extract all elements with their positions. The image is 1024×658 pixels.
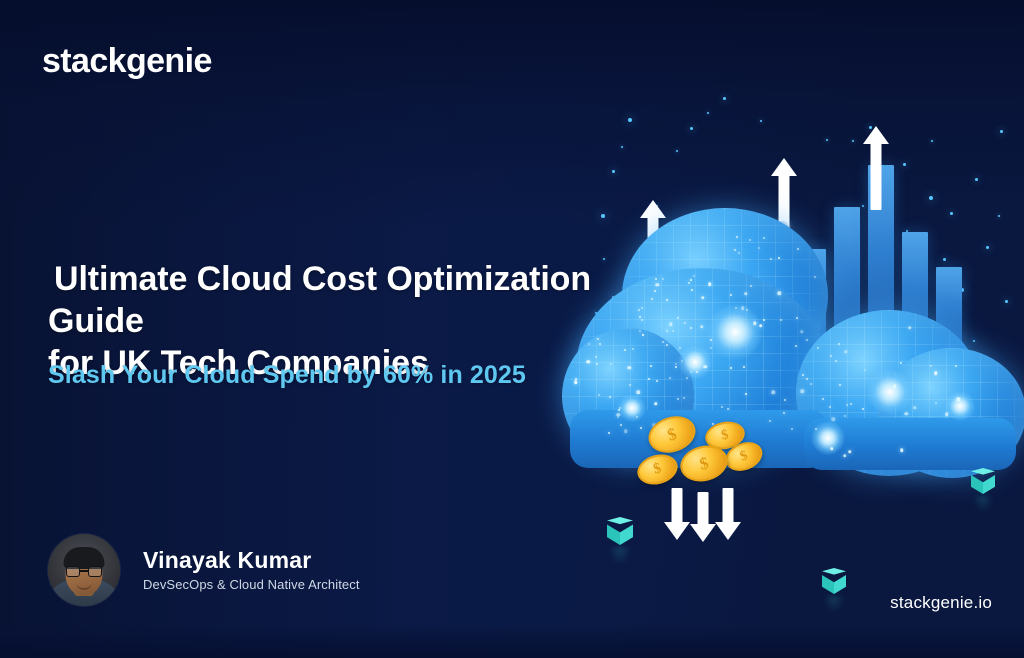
- cloud-node-dot: [666, 344, 668, 346]
- cloud-node-dot: [777, 292, 781, 296]
- cloud-node-dot: [624, 349, 626, 351]
- cloud-node-dot: [648, 378, 650, 380]
- star-decoration: [628, 118, 632, 122]
- author-block: Vinayak Kumar DevSecOps & Cloud Native A…: [48, 534, 360, 606]
- cloud-node-dot: [780, 319, 782, 321]
- cloud-node-dot: [675, 366, 677, 368]
- cloud-node-dot: [640, 427, 642, 429]
- star-decoration: [826, 139, 828, 141]
- cloud-node-dot: [677, 398, 679, 400]
- cloud-node-dot: [945, 413, 949, 417]
- cube-icon: [822, 568, 846, 594]
- cloud-node-dot: [655, 278, 657, 280]
- star-decoration: [676, 150, 678, 152]
- cloud-node-dot: [934, 372, 938, 376]
- cloud-node-dot: [710, 339, 712, 341]
- cloud-node-dot: [763, 237, 765, 239]
- cloud-node-dot: [684, 322, 686, 324]
- cloud-node-dot: [598, 394, 600, 396]
- cloud-node-dot: [721, 406, 723, 408]
- cloud-node-dot: [641, 319, 643, 321]
- cloud-node-dot: [862, 408, 864, 410]
- cloud-node-dot: [817, 347, 819, 349]
- cloud-node-dot: [791, 428, 793, 430]
- cube-icon: [971, 468, 995, 494]
- cloud-node-dot: [838, 343, 840, 345]
- cloud-node-dot: [778, 257, 780, 259]
- cloud-node-dot: [750, 285, 752, 287]
- cloud-node-dot: [956, 397, 960, 401]
- arrow-down-icon: [690, 492, 716, 542]
- cloud-node-dot: [736, 236, 738, 238]
- cloud-node-dot: [797, 248, 799, 250]
- cloud-node-dot: [654, 290, 656, 292]
- cloud-node-dot: [656, 283, 660, 287]
- cloud-node-dot: [815, 428, 817, 430]
- cloud-node-dot: [669, 377, 671, 379]
- cloud-node-dot: [955, 365, 957, 367]
- cloud-node-dot: [758, 247, 760, 249]
- cloud-node-dot: [843, 454, 847, 458]
- cloud-node-dot: [675, 363, 677, 365]
- cloud-node-dot: [814, 276, 816, 278]
- cloud-node-dot: [753, 321, 757, 325]
- cloud-node-dot: [639, 316, 641, 318]
- cloud-node-dot: [704, 365, 708, 369]
- cloud-node-dot: [629, 384, 631, 386]
- cloud-node-dot: [616, 413, 620, 417]
- cloud-node-dot: [846, 404, 848, 406]
- cube-reflection: [609, 547, 631, 565]
- cloud-node-dot: [609, 396, 611, 398]
- cloud-node-dot: [930, 365, 932, 367]
- cloud-node-dot: [900, 448, 904, 452]
- cloud-node-dot: [770, 258, 772, 260]
- cloud-node-dot: [744, 292, 748, 296]
- cloud-node-dot: [759, 324, 763, 328]
- cloud-node-dot: [727, 408, 729, 410]
- cube-icon: [607, 517, 633, 545]
- cloud-node-dot: [651, 298, 653, 300]
- star-decoration: [852, 140, 854, 142]
- cloud-node-dot: [850, 403, 852, 405]
- arrow-down-icon: [715, 488, 741, 540]
- cloud-node-dot: [830, 355, 832, 357]
- cloud-node-dot: [734, 249, 736, 251]
- cloud-node-dot: [844, 415, 846, 417]
- star-decoration: [760, 120, 762, 122]
- glasses-icon: [66, 566, 102, 577]
- cloud-node-dot: [608, 432, 610, 434]
- star-decoration: [621, 146, 623, 148]
- cloud-node-dot: [900, 362, 902, 364]
- cloud-node-dot: [904, 412, 908, 416]
- cloud-node-dot: [628, 366, 632, 370]
- cloud-node-dot: [763, 319, 765, 321]
- cloud-node-dot: [690, 327, 692, 329]
- cloud-node-dot: [730, 367, 732, 369]
- cloud-node-dot: [913, 406, 917, 410]
- cloud-node-dot: [771, 390, 775, 394]
- cloud-node-dot: [677, 317, 679, 319]
- cloud-node-dot: [688, 282, 690, 284]
- cloud-node-dot: [650, 365, 652, 367]
- author-role: DevSecOps & Cloud Native Architect: [143, 575, 360, 595]
- cloud-node-dot: [708, 282, 712, 286]
- avatar: [48, 534, 120, 606]
- cloud-node-dot: [801, 389, 805, 393]
- star-decoration: [612, 170, 615, 173]
- cloud-node-dot: [656, 380, 658, 382]
- cloud-node-dot: [908, 326, 912, 330]
- cloud-node-dot: [636, 390, 640, 394]
- cloud-node-dot: [618, 409, 620, 411]
- star-decoration: [1000, 130, 1003, 133]
- cloud-node-dot: [844, 350, 848, 354]
- cloud-node-dot: [738, 252, 740, 254]
- cloud-node-dot: [796, 317, 798, 319]
- cloud-node-dot: [800, 330, 804, 334]
- cloud-node-dot: [935, 402, 937, 404]
- cloud-node-dot: [783, 412, 785, 414]
- cloud-node-dot: [639, 330, 641, 332]
- cloud-node-dot: [686, 377, 688, 379]
- background-bottom-shade: [0, 624, 1024, 658]
- cube-reflection: [973, 496, 993, 512]
- cloud-node-dot: [662, 278, 664, 280]
- arrow-down-icon: [664, 488, 690, 540]
- cloud-node-dot: [693, 275, 695, 277]
- cloud-node-dot: [893, 385, 897, 389]
- cloud-node-dot: [700, 325, 704, 329]
- cloud-node-dot: [802, 374, 804, 376]
- cloud-node-dot: [822, 398, 824, 400]
- cube-reflection: [824, 596, 844, 612]
- cloud-node-dot: [829, 406, 831, 408]
- cloud-node-dot: [769, 420, 771, 422]
- star-decoration: [707, 112, 709, 114]
- cloud-node-dot: [690, 279, 692, 281]
- cloud-node-dot: [642, 334, 644, 336]
- star-decoration: [931, 140, 933, 142]
- cloud-node-dot: [832, 417, 836, 421]
- cloud-node-dot: [632, 348, 634, 350]
- cloud-node-dot: [666, 299, 668, 301]
- cloud-node-dot: [696, 371, 698, 373]
- cloud-node-dot: [830, 447, 834, 451]
- cloud-node-dot: [784, 399, 786, 401]
- cloud-node-dot: [679, 347, 681, 349]
- cloud-node-dot: [810, 383, 812, 385]
- site-url[interactable]: stackgenie.io: [890, 593, 992, 613]
- cloud-node-dot: [681, 360, 683, 362]
- cloud-node-dot: [669, 322, 673, 326]
- cloud-node-dot: [746, 309, 748, 311]
- cloud-node-dot: [620, 424, 622, 426]
- cloud-node-dot: [662, 341, 664, 343]
- cloud-node-dot: [636, 416, 638, 418]
- page-subtitle: Slash Your Cloud Spend by 60% in 2025: [48, 358, 526, 392]
- cloud-node-dot: [745, 393, 747, 395]
- cloud-node-dot: [749, 239, 751, 241]
- cloud-node-dot: [672, 330, 674, 332]
- cloud-node-dot: [839, 384, 841, 386]
- cloud-node-dot: [624, 429, 628, 433]
- cloud-node-dot: [848, 450, 852, 454]
- cloud-node-dot: [735, 307, 737, 309]
- cloud-node-dot: [710, 347, 712, 349]
- cloud-illustration: [560, 180, 1024, 500]
- cloud-node-dot: [743, 366, 745, 368]
- cloud-node-dot: [806, 378, 808, 380]
- banner-graphic: $ $ $ $ $ stackgenie Ultimate Cloud Cost…: [0, 0, 1024, 658]
- star-decoration: [723, 97, 726, 100]
- cloud-node-dot: [835, 360, 837, 362]
- headline-line-1: Ultimate Cloud Cost Optimization Guide: [48, 258, 623, 342]
- cloud-node-dot: [654, 402, 658, 406]
- cloud-node-dot: [683, 397, 685, 399]
- cloud-node-dot: [690, 371, 692, 373]
- cloud-node-dot: [730, 294, 732, 296]
- cloud-node-dot: [806, 339, 808, 341]
- cloud-node-dot: [691, 289, 693, 291]
- author-name: Vinayak Kumar: [143, 546, 360, 574]
- cloud-node-dot: [864, 369, 866, 371]
- brand-logo[interactable]: stackgenie: [42, 42, 212, 81]
- star-decoration: [690, 127, 693, 130]
- cloud-node-dot: [795, 345, 797, 347]
- cloud-node-dot: [638, 309, 640, 311]
- cloud-node-dot: [666, 330, 668, 332]
- cloud-node-dot: [701, 296, 705, 300]
- cloud-node-dot: [641, 307, 643, 309]
- cloud-node-dot: [741, 307, 745, 311]
